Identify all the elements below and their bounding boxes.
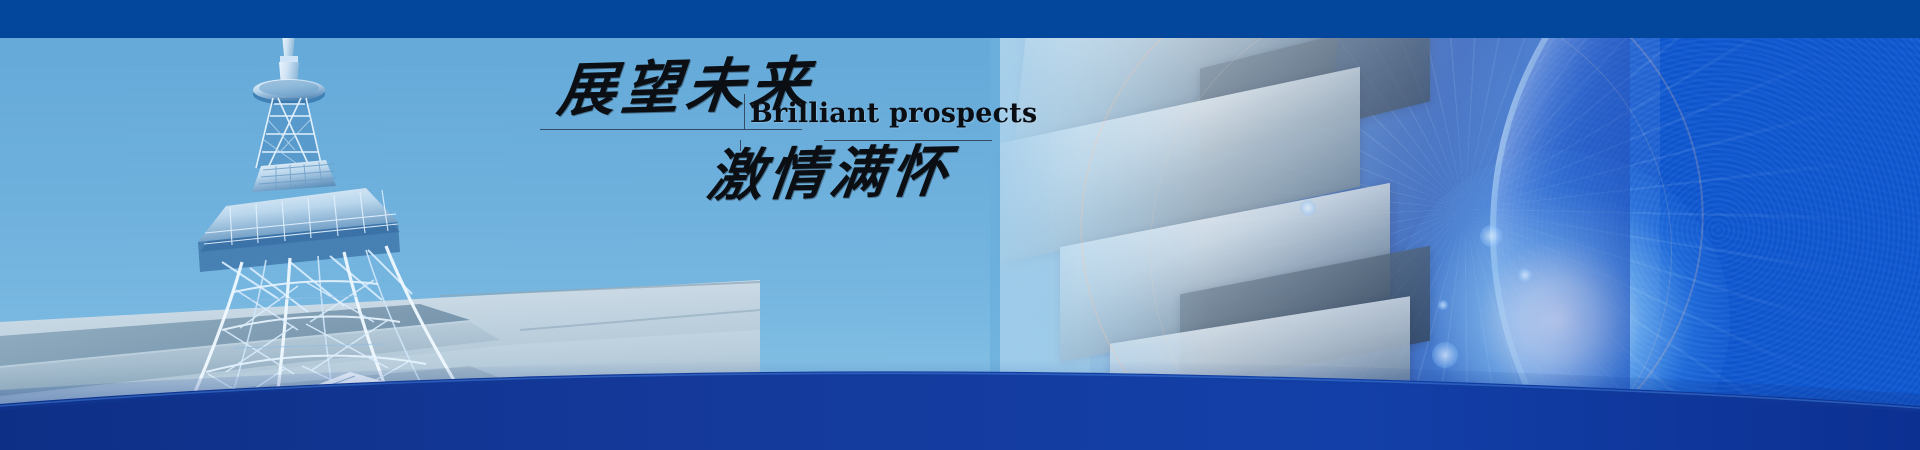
top-accent-bar xyxy=(0,0,1920,38)
site-banner: 展望未来 Brilliant prospects 激情满怀 xyxy=(0,0,1920,450)
divider-vertical xyxy=(744,94,745,130)
tower-base-plates xyxy=(150,330,770,450)
headline-block: 展望未来 Brilliant prospects 激情满怀 xyxy=(540,58,1160,228)
divider-horizontal xyxy=(540,129,802,130)
english-tagline: Brilliant prospects xyxy=(750,98,1037,129)
chinese-headline-secondary: 激情满怀 xyxy=(704,143,955,204)
